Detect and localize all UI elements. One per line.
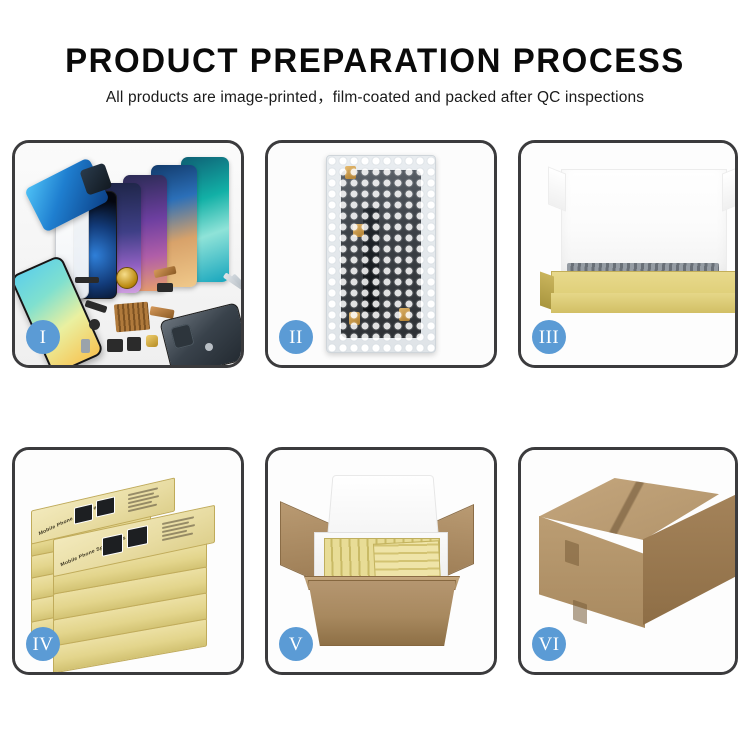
side-flex-part bbox=[84, 300, 107, 313]
subheader: All products are image-printed，film-coat… bbox=[0, 90, 750, 106]
step-numeral-5: V bbox=[289, 635, 303, 654]
box-screen-chip-rear-1 bbox=[74, 503, 93, 524]
box-lid-white bbox=[561, 169, 727, 278]
step-badge-6: VI bbox=[532, 627, 566, 661]
box-front-face bbox=[551, 293, 737, 313]
step-panel-4[interactable]: Mobile Phone Spare Parts Mobile Phone Sp bbox=[12, 447, 244, 675]
step-numeral-2: II bbox=[289, 328, 303, 347]
connector-pad-part bbox=[114, 302, 150, 333]
box-screen-chip-rear-2 bbox=[96, 496, 115, 517]
charging-port-part bbox=[149, 306, 174, 319]
page-subtitle: All products are image-printed，film-coat… bbox=[0, 90, 750, 106]
step-badge-5: V bbox=[279, 627, 313, 661]
page-title: PRODUCT PREPARATION PROCESS bbox=[11, 44, 739, 78]
speaker-part bbox=[107, 339, 123, 352]
screw-set-part bbox=[146, 335, 158, 347]
box-screen-chip-front-1 bbox=[102, 533, 123, 556]
step-badge-2: II bbox=[279, 320, 313, 354]
small-screws-part bbox=[205, 343, 213, 351]
step-panel-2[interactable]: II Individual screen sealed in bubble wr… bbox=[265, 140, 497, 368]
step-panel-3[interactable]: III Wrapped screens placed in white foam… bbox=[518, 140, 738, 368]
foam-lid-white bbox=[327, 475, 439, 536]
vibration-motor-part bbox=[116, 267, 138, 289]
step-badge-3: III bbox=[532, 320, 566, 354]
step-numeral-4: IV bbox=[32, 635, 53, 654]
header: PRODUCT PREPARATION PROCESS bbox=[0, 44, 750, 78]
step-panel-1[interactable]: I Assorted mobile phone LCD screens, tem… bbox=[12, 140, 244, 368]
step-panel-6[interactable]: VI Carton taped and sealed ready for dis… bbox=[518, 447, 738, 675]
bubble-wrap-bag bbox=[326, 155, 436, 353]
product-preparation-infographic: PRODUCT PREPARATION PROCESS All products… bbox=[0, 0, 750, 750]
step-numeral-3: III bbox=[539, 328, 559, 347]
screwdriver-tool bbox=[231, 274, 244, 306]
box-screen-chip-front-2 bbox=[127, 525, 148, 548]
carton-tape-lower bbox=[573, 600, 587, 625]
carton-body bbox=[308, 580, 456, 646]
step-numeral-1: I bbox=[40, 328, 47, 347]
carton-tape-upper bbox=[565, 540, 579, 567]
step-numeral-6: VI bbox=[538, 635, 559, 654]
step-badge-1: I bbox=[26, 320, 60, 354]
flex-cable-part bbox=[75, 277, 99, 283]
sim-tray-part bbox=[81, 339, 90, 353]
step-panel-5[interactable]: V Boxes packed into foam lined shipping … bbox=[265, 447, 497, 675]
bubble-texture bbox=[327, 156, 435, 352]
camera-module-part bbox=[157, 283, 173, 292]
earpiece-part bbox=[127, 337, 141, 351]
box-stack: Mobile Phone Spare Parts Mobile Phone Sp bbox=[29, 476, 229, 656]
home-button-part bbox=[89, 319, 100, 330]
step-badge-4: IV bbox=[26, 627, 60, 661]
